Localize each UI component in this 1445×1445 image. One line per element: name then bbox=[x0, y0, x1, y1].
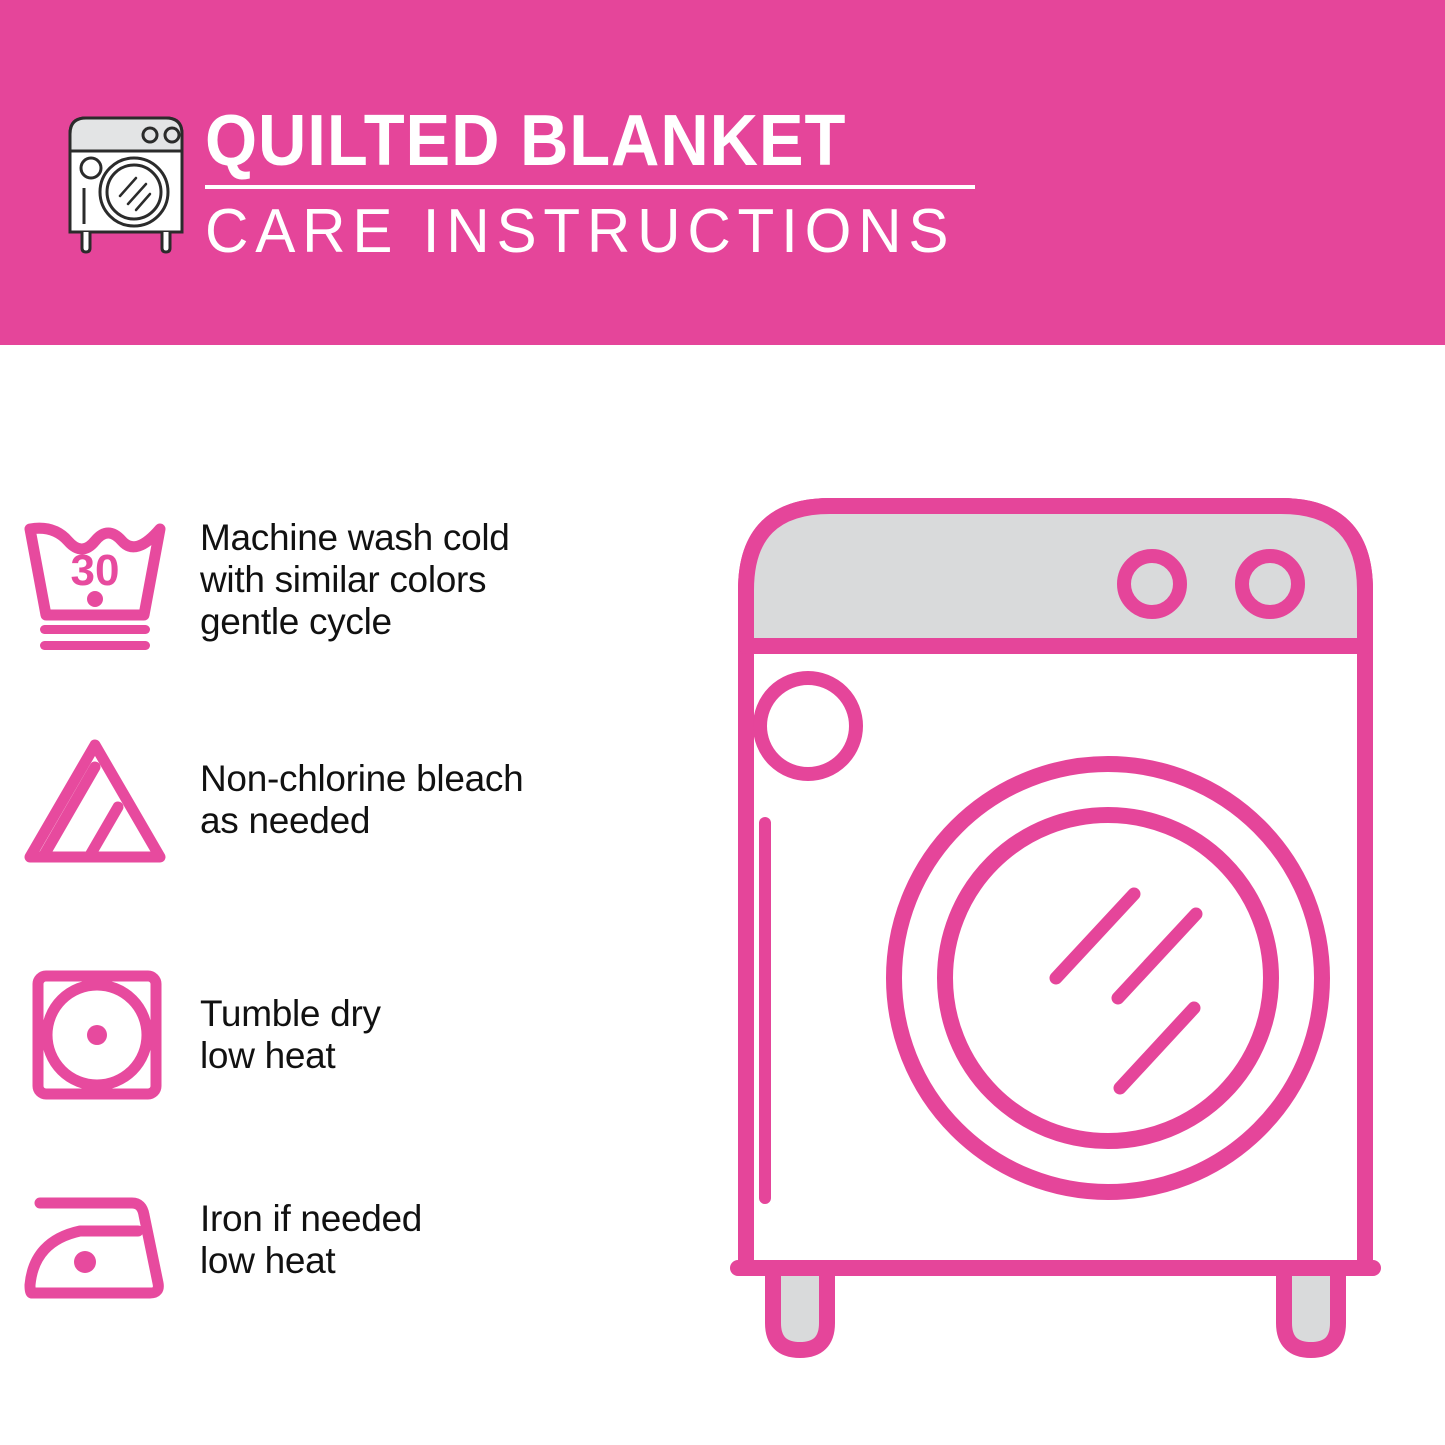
text-line: low heat bbox=[200, 1035, 381, 1077]
list-item-text: Iron if needed low heat bbox=[190, 1198, 422, 1282]
page-subtitle: CARE INSTRUCTIONS bbox=[205, 197, 971, 267]
header-band: QUILTED BLANKET CARE INSTRUCTIONS bbox=[0, 0, 1445, 345]
front-load-washing-machine-illustration bbox=[718, 478, 1393, 1368]
text-line: Non-chlorine bleach bbox=[200, 758, 523, 800]
list-item-text: Non-chlorine bleach as needed bbox=[190, 758, 523, 842]
text-line: gentle cycle bbox=[200, 601, 510, 643]
text-line: low heat bbox=[200, 1240, 422, 1282]
title-divider bbox=[205, 185, 975, 189]
list-item-text: Machine wash cold with similar colors ge… bbox=[190, 517, 510, 643]
list-item-text: Tumble dry low heat bbox=[190, 993, 381, 1077]
iron-low-heat-icon bbox=[0, 1155, 190, 1325]
care-instructions-infographic: QUILTED BLANKET CARE INSTRUCTIONS 30 Mac… bbox=[0, 0, 1445, 1445]
text-line: Iron if needed bbox=[200, 1198, 422, 1240]
leg-left bbox=[773, 1268, 827, 1350]
list-item: Tumble dry low heat bbox=[0, 950, 700, 1120]
text-line: with similar colors bbox=[200, 559, 510, 601]
wash-temperature-label: 30 bbox=[71, 546, 120, 595]
instructions-list: 30 Machine wash cold with similar colors… bbox=[0, 345, 700, 1445]
tumble-dry-low-heat-icon bbox=[0, 950, 190, 1120]
list-item: Non-chlorine bleach as needed bbox=[0, 715, 700, 885]
washing-machine-icon bbox=[62, 104, 190, 254]
list-item: 30 Machine wash cold with similar colors… bbox=[0, 495, 700, 665]
text-line: Machine wash cold bbox=[200, 517, 510, 559]
leg-right bbox=[1284, 1268, 1338, 1350]
list-item: Iron if needed low heat bbox=[0, 1155, 700, 1325]
wash-tub-30-gentle-icon: 30 bbox=[0, 495, 190, 665]
non-chlorine-bleach-triangle-icon bbox=[0, 715, 190, 885]
page-title: QUILTED BLANKET bbox=[205, 103, 940, 179]
header-text-block: QUILTED BLANKET CARE INSTRUCTIONS bbox=[205, 103, 995, 267]
text-line: Tumble dry bbox=[200, 993, 381, 1035]
text-line: as needed bbox=[200, 800, 523, 842]
control-panel bbox=[746, 506, 1365, 646]
